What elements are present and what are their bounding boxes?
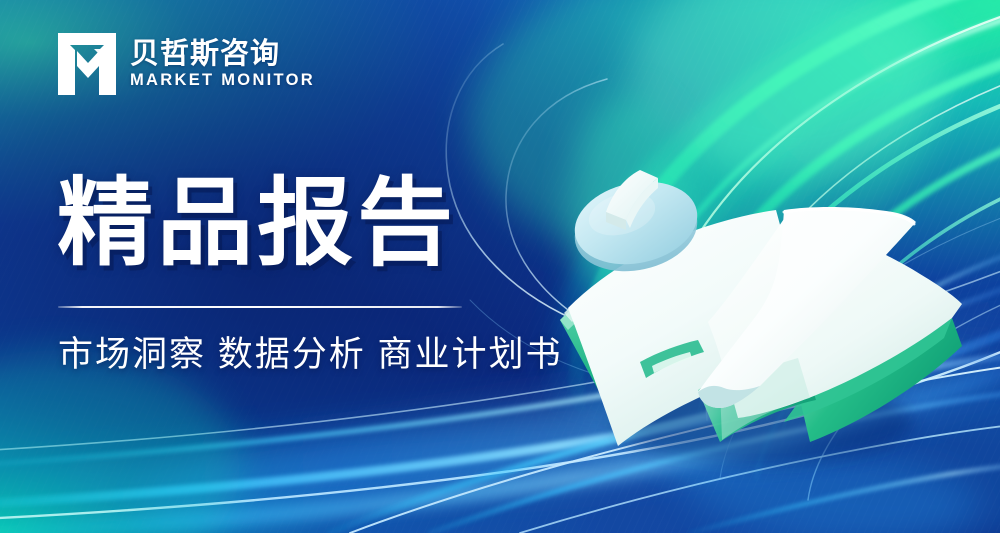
page-title: 精品报告 (57, 176, 457, 272)
report-banner: 贝哲斯咨询 MARKET MONITOR 精品报告 市场洞察 数据分析 商业计划… (0, 0, 1000, 533)
open-book-svg (548, 150, 968, 470)
market-monitor-m-logo-icon (58, 33, 116, 95)
open-book-illustration (548, 150, 968, 470)
logo[interactable]: 贝哲斯咨询 MARKET MONITOR (58, 33, 315, 95)
title-divider (58, 306, 462, 308)
logo-company-name-cn: 贝哲斯咨询 (130, 39, 315, 69)
subtitle: 市场洞察 数据分析 商业计划书 (58, 332, 562, 378)
logo-company-name-en: MARKET MONITOR (130, 72, 315, 89)
logo-text: 贝哲斯咨询 MARKET MONITOR (130, 39, 315, 89)
